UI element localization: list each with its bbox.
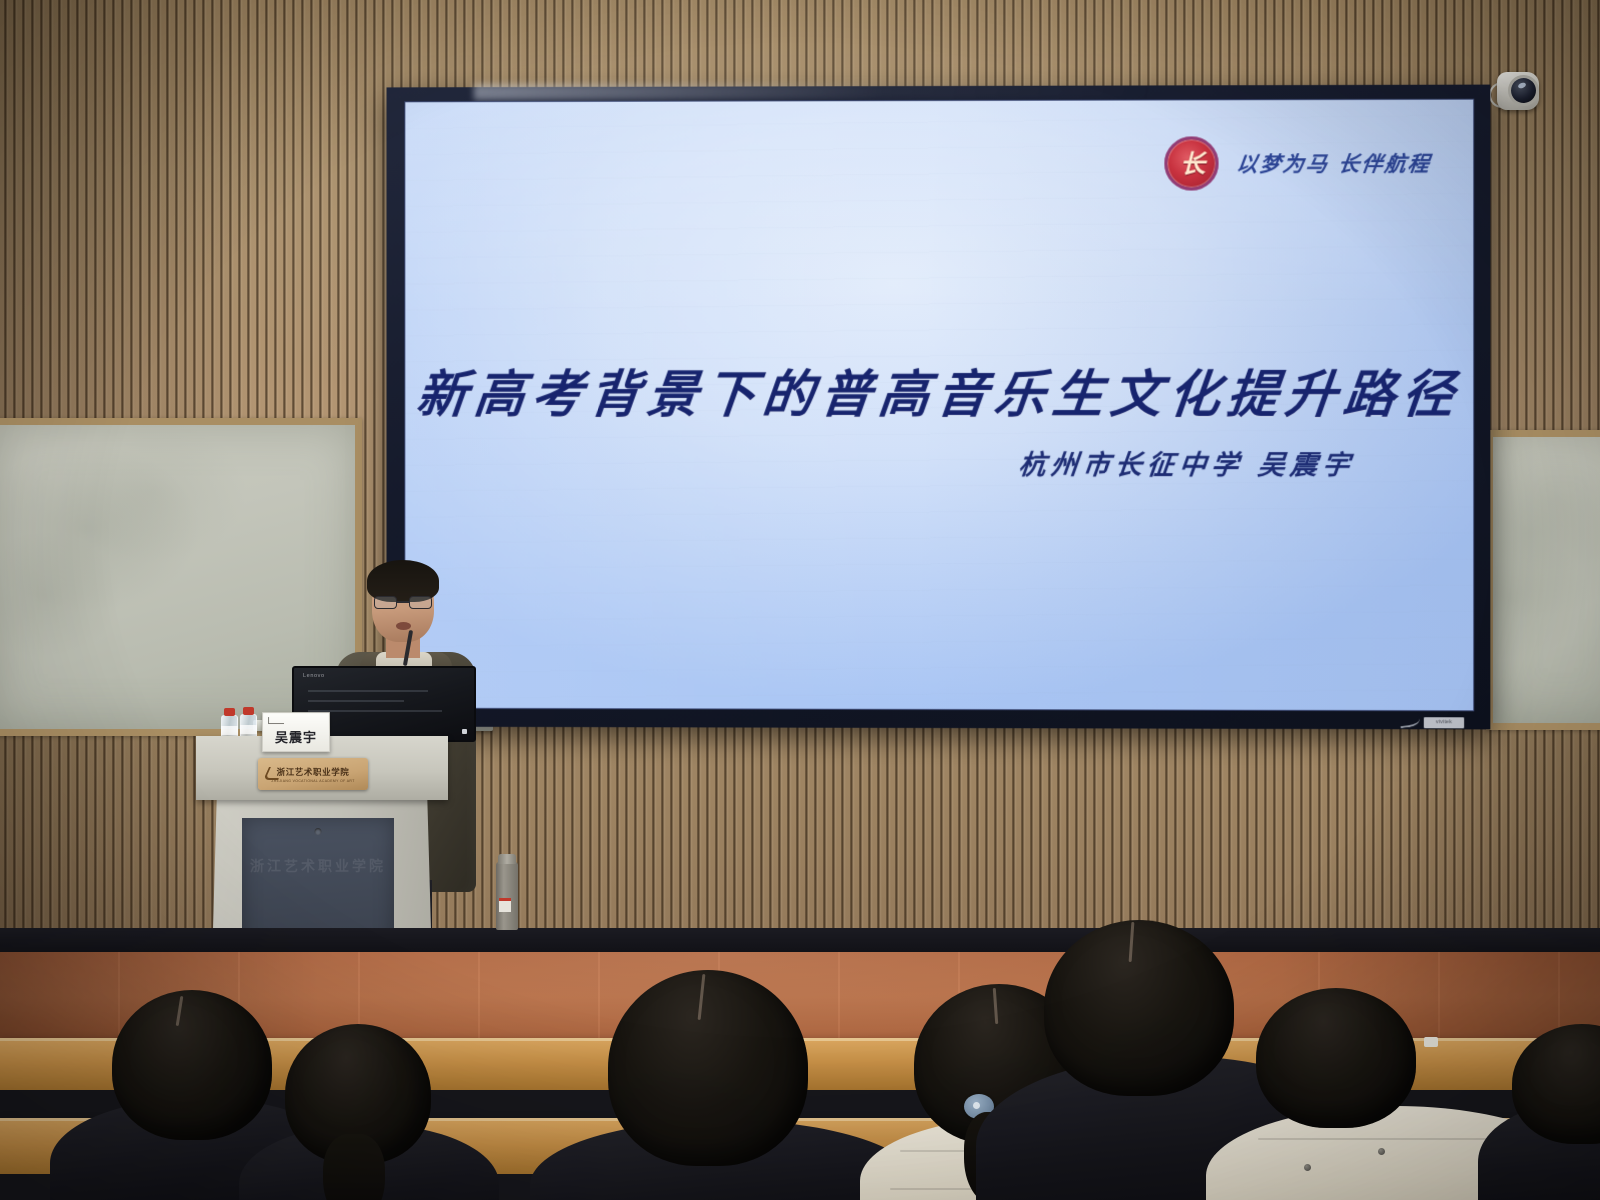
jacket-seam bbox=[1258, 1138, 1488, 1140]
slide-title: 新高考背景下的普高音乐生文化提升路径 bbox=[404, 353, 1474, 427]
jacket-stud bbox=[1304, 1164, 1311, 1171]
fire-extinguisher-icon bbox=[496, 862, 518, 930]
jacket-stud bbox=[1378, 1148, 1385, 1155]
monitor-content-line bbox=[308, 700, 404, 702]
emblem-mark: 长 bbox=[1180, 144, 1202, 180]
monitor-content-line bbox=[308, 690, 428, 692]
monitor-power-led bbox=[462, 729, 467, 734]
podium-institution-plaque: 浙江艺术职业学院 ZHEJIANG VOCATIONAL ACADEMY OF … bbox=[258, 758, 368, 790]
slide-header-logo-row: 长 以梦为马 长伴航程 bbox=[1164, 136, 1431, 191]
slide-motto: 以梦为马 长伴航程 bbox=[1235, 148, 1433, 178]
right-wall-panel bbox=[1486, 430, 1600, 730]
screen-brand-label: vivitek bbox=[1424, 717, 1464, 728]
security-camera-icon bbox=[1489, 68, 1541, 114]
projection-screen-frame: 长 以梦为马 长伴航程 新高考背景下的普高音乐生文化提升路径 杭州市长征中学 吴… bbox=[387, 85, 1491, 730]
monitor-brand-label: Lenovo bbox=[303, 673, 325, 679]
nameplate-name: 吴震宇 bbox=[275, 727, 317, 746]
audience-member bbox=[560, 970, 860, 1200]
speaker-nameplate: 吴震宇 bbox=[262, 712, 330, 752]
plaque-name-en: ZHEJIANG VOCATIONAL ACADEMY OF ART bbox=[271, 779, 354, 783]
wall-baseboard bbox=[0, 928, 1600, 954]
audience-member bbox=[1478, 1024, 1600, 1200]
audience-hair bbox=[1044, 920, 1234, 1096]
audience-hair bbox=[1256, 988, 1416, 1128]
audience-ponytail bbox=[323, 1134, 385, 1200]
school-emblem-icon: 长 bbox=[1164, 136, 1218, 190]
podium-emboss-zh: 浙江艺术职业学院 bbox=[250, 856, 386, 876]
presenter-mouth bbox=[396, 622, 411, 630]
audience-member bbox=[245, 1024, 475, 1200]
slide-subtitle: 杭州市长征中学 吴震宇 bbox=[1017, 443, 1357, 482]
screen-brand-swoosh-icon bbox=[1399, 714, 1420, 728]
slide-content: 长 以梦为马 长伴航程 新高考背景下的普高音乐生文化提升路径 杭州市长征中学 吴… bbox=[405, 100, 1473, 711]
projection-screen-surface: 长 以梦为马 长伴航程 新高考背景下的普高音乐生文化提升路径 杭州市长征中学 吴… bbox=[404, 99, 1474, 712]
audience-hair bbox=[608, 970, 808, 1166]
nameplate-logo-icon bbox=[268, 717, 284, 724]
eyeglasses-icon bbox=[374, 596, 432, 609]
lecture-hall-photo: 长 以梦为马 长伴航程 新高考背景下的普高音乐生文化提升路径 杭州市长征中学 吴… bbox=[0, 0, 1600, 1200]
podium-screw bbox=[315, 828, 322, 835]
plaque-name-zh: 浙江艺术职业学院 bbox=[277, 766, 350, 778]
